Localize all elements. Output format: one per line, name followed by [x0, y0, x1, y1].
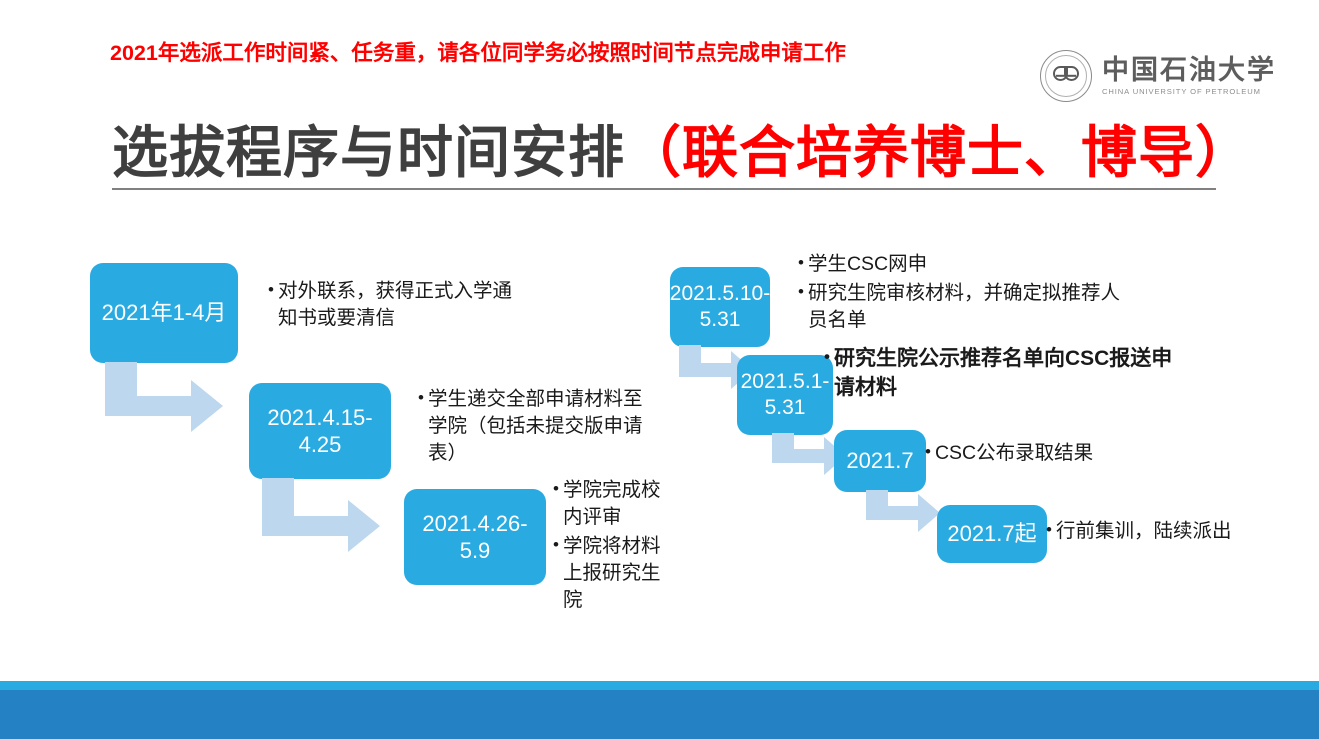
- flow-box-step-2[interactable]: 2021.4.15-4.25: [249, 383, 391, 479]
- page-title-main: 选拔程序与时间安排: [112, 121, 625, 184]
- bullet-item: • CSC公布录取结果: [925, 440, 1175, 467]
- bullet-text: 学院将材料上报研究生院: [563, 533, 661, 614]
- bullet-dot-icon: •: [418, 386, 424, 411]
- bullet-dot-icon: •: [1046, 518, 1052, 543]
- flow-notes-step-7: • 行前集训，陆续派出: [1046, 518, 1296, 547]
- bullet-item: • 行前集训，陆续派出: [1046, 518, 1296, 545]
- logo-name-cn: 中国石油大学: [1102, 56, 1276, 84]
- flow-box-step-7[interactable]: 2021.7起: [937, 505, 1047, 563]
- flow-notes-step-2: • 学生递交全部申请材料至学院（包括未提交版申请表）: [418, 386, 658, 469]
- bullet-text: 行前集训，陆续派出: [1056, 518, 1296, 545]
- page-title-accent: （联合培养博士、博导）: [625, 121, 1252, 184]
- bullet-text: 研究生院审核材料，并确定拟推荐人员名单: [808, 280, 1128, 334]
- bullet-dot-icon: •: [798, 251, 804, 276]
- flow-arrow-1-to-2: [105, 362, 225, 434]
- bullet-dot-icon: •: [553, 477, 559, 502]
- bullet-text: CSC公布录取结果: [935, 440, 1175, 467]
- bullet-text: 学生CSC网申: [808, 251, 1128, 278]
- bullet-item: • 学生CSC网申: [798, 251, 1128, 278]
- header-kicker: 2021年选派工作时间紧、任务重，请各位同学务必按照时间节点完成申请工作: [110, 36, 846, 67]
- logo-name-en: CHINA UNIVERSITY OF PETROLEUM: [1102, 87, 1276, 96]
- flow-notes-step-5: • 研究生院公示推荐名单向CSC报送申请材料: [824, 345, 1174, 405]
- page-title: 选拔程序与时间安排（联合培养博士、博导）: [112, 108, 1252, 189]
- bullet-dot-icon: •: [798, 280, 804, 305]
- university-logo: 中国石油大学 CHINA UNIVERSITY OF PETROLEUM: [1040, 46, 1290, 106]
- bullet-dot-icon: •: [824, 345, 830, 370]
- bullet-text: 研究生院公示推荐名单向CSC报送申请材料: [834, 345, 1174, 403]
- flow-arrow-2-to-3: [262, 478, 382, 556]
- bullet-text: 学生递交全部申请材料至学院（包括未提交版申请表）: [428, 386, 658, 467]
- flow-notes-step-4: • 学生CSC网申 • 研究生院审核材料，并确定拟推荐人员名单: [798, 251, 1128, 336]
- bullet-item: • 学院完成校内评审: [553, 477, 661, 531]
- flow-box-step-6[interactable]: 2021.7: [834, 430, 926, 492]
- flow-notes-step-1: • 对外联系，获得正式入学通知书或要清信: [268, 278, 523, 334]
- bullet-item: • 对外联系，获得正式入学通知书或要清信: [268, 278, 523, 332]
- flow-arrow-6-to-7: [866, 490, 942, 536]
- bullet-text: 对外联系，获得正式入学通知书或要清信: [278, 278, 523, 332]
- bullet-item: • 研究生院公示推荐名单向CSC报送申请材料: [824, 345, 1174, 403]
- flow-notes-step-6: • CSC公布录取结果: [925, 440, 1175, 469]
- university-seal-icon: [1040, 50, 1092, 102]
- bullet-item: • 研究生院审核材料，并确定拟推荐人员名单: [798, 280, 1128, 334]
- flow-box-step-1[interactable]: 2021年1-4月: [90, 263, 238, 363]
- logo-text-block: 中国石油大学 CHINA UNIVERSITY OF PETROLEUM: [1102, 56, 1276, 96]
- bullet-dot-icon: •: [268, 278, 274, 303]
- bullet-item: • 学生递交全部申请材料至学院（包括未提交版申请表）: [418, 386, 658, 467]
- bullet-dot-icon: •: [925, 440, 931, 465]
- bullet-dot-icon: •: [553, 533, 559, 558]
- bullet-text: 学院完成校内评审: [563, 477, 661, 531]
- flow-box-step-3[interactable]: 2021.4.26-5.9: [404, 489, 546, 585]
- bullet-item: • 学院将材料上报研究生院: [553, 533, 661, 614]
- title-divider: [112, 188, 1216, 190]
- slide-canvas: 2021年选派工作时间紧、任务重，请各位同学务必按照时间节点完成申请工作 中国石…: [0, 0, 1319, 739]
- flow-box-step-4[interactable]: 2021.5.10-5.31: [670, 267, 770, 347]
- footer-band-dark: [0, 690, 1319, 739]
- footer-band-light: [0, 681, 1319, 690]
- flow-notes-step-3: • 学院完成校内评审 • 学院将材料上报研究生院: [553, 477, 661, 616]
- flow-box-step-5[interactable]: 2021.5.1-5.31: [737, 355, 833, 435]
